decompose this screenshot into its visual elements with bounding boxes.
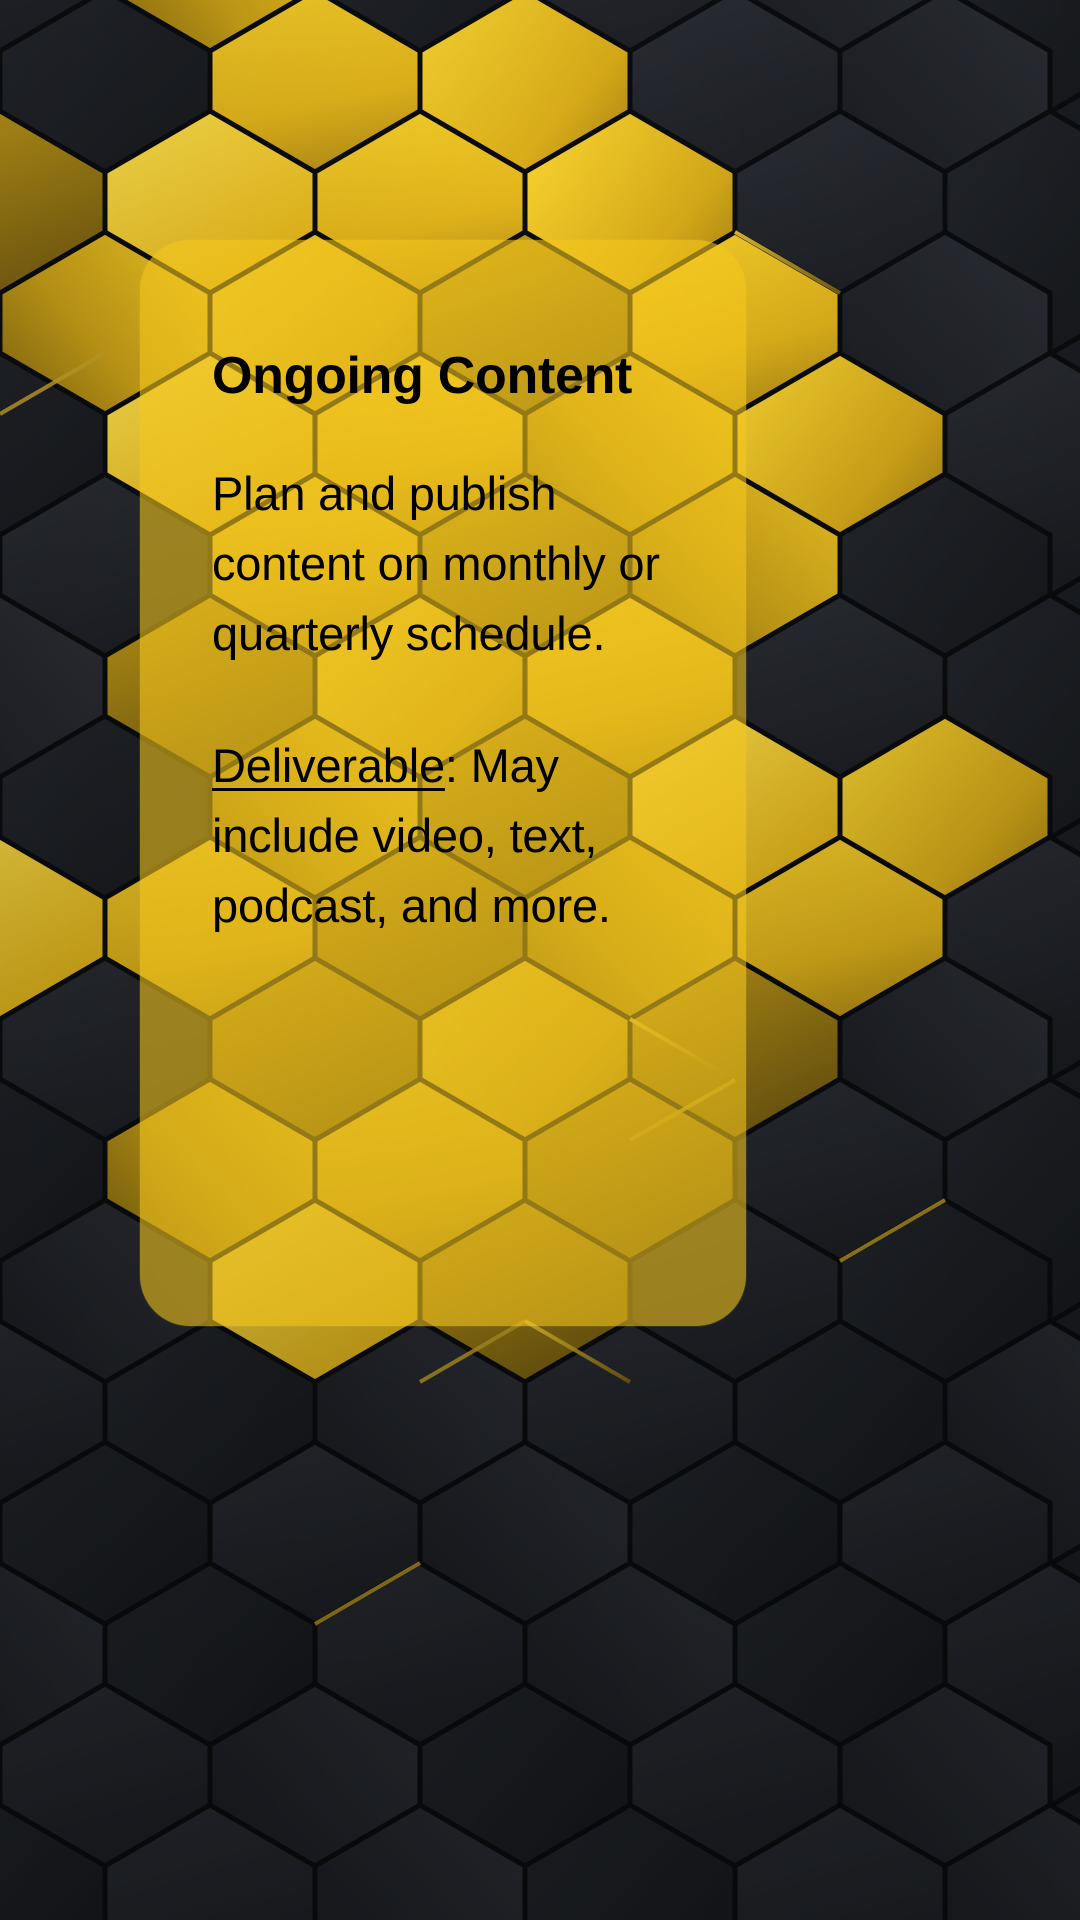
slide-canvas: Ongoing Content Plan and publish content… xyxy=(0,0,1080,1920)
deliverable-separator: : xyxy=(445,739,471,792)
content-card: Ongoing Content Plan and publish content… xyxy=(140,240,746,1326)
deliverable-label: Deliverable xyxy=(212,739,445,792)
paragraph-spacer xyxy=(212,669,682,731)
card-content: Ongoing Content Plan and publish content… xyxy=(212,348,682,941)
card-title: Ongoing Content xyxy=(212,348,682,405)
paragraph-plan-publish: Plan and publish content on monthly or q… xyxy=(212,467,660,660)
card-body: Plan and publish content on monthly or q… xyxy=(212,459,682,941)
